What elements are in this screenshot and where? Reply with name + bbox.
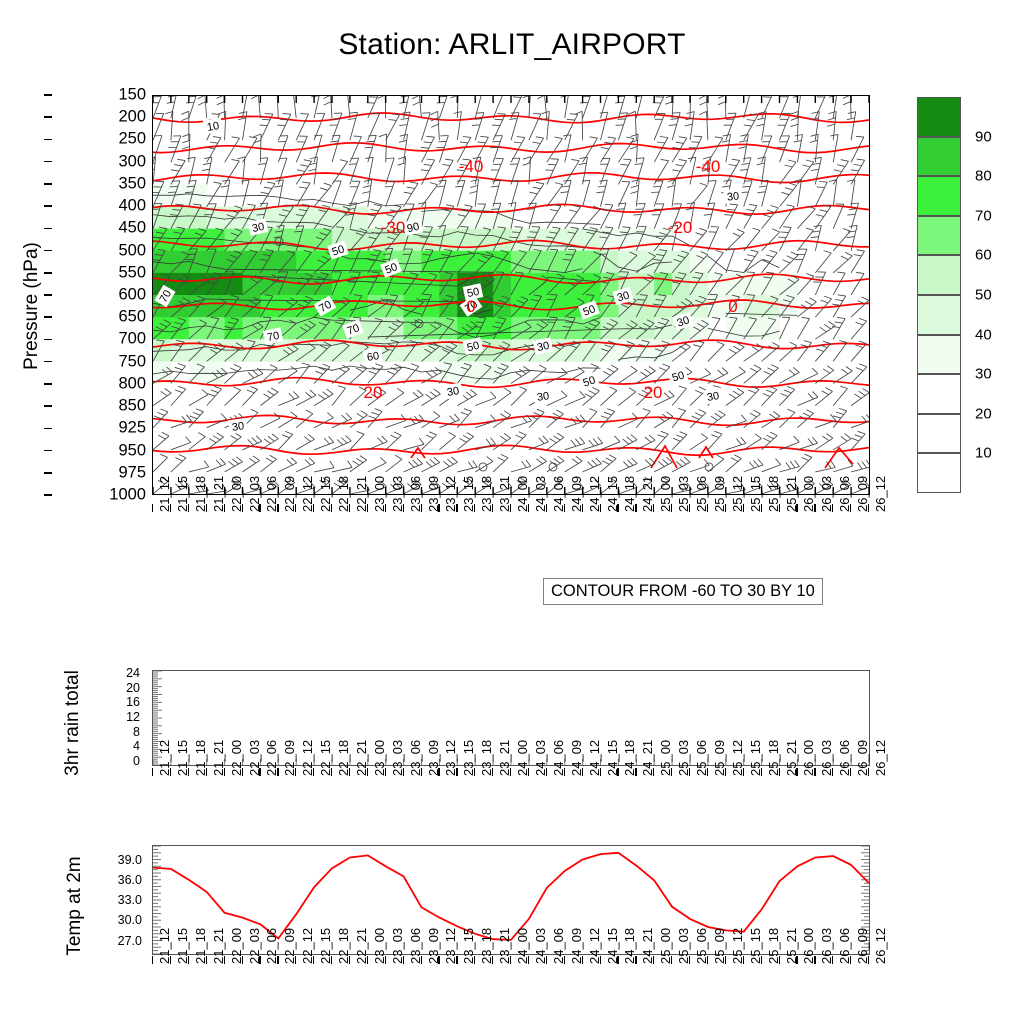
time-tick: [438, 956, 439, 964]
rain-tick-label: 4: [133, 739, 140, 753]
pressure-tick-label: 850: [118, 397, 146, 416]
time-tick: [259, 768, 260, 776]
colorbar-swatch: [917, 216, 961, 256]
time-tick: [242, 504, 243, 512]
time-tick: [707, 956, 708, 964]
colorbar-tick-label: 70: [975, 207, 992, 224]
time-tick: [671, 956, 672, 964]
pressure-tick: [44, 250, 52, 252]
pressure-tick: [44, 450, 52, 452]
temp-series-line: [153, 853, 869, 940]
humidity-colorbar: 102030405060708090: [917, 97, 961, 493]
time-tick: [868, 504, 869, 512]
main-yaxis-label: Pressure (hPa): [21, 156, 43, 456]
time-tick: [313, 768, 314, 776]
time-tick: [564, 956, 565, 964]
time-tick: [331, 956, 332, 964]
colorbar-swatch: [917, 97, 961, 137]
pressure-tick: [44, 316, 52, 318]
time-tick: [617, 504, 618, 512]
time-tick: [743, 956, 744, 964]
time-tick: [438, 768, 439, 776]
time-tick: [277, 956, 278, 964]
time-tick: [385, 768, 386, 776]
time-tick: [653, 768, 654, 776]
pressure-tick-label: 550: [118, 263, 146, 282]
time-tick: [689, 956, 690, 964]
time-tick: [635, 768, 636, 776]
time-tick: [761, 956, 762, 964]
time-tick: [152, 956, 153, 964]
time-tick: [796, 956, 797, 964]
pressure-tick: [44, 405, 52, 407]
time-tick: [188, 768, 189, 776]
time-tick: [600, 768, 601, 776]
time-tick: [313, 504, 314, 512]
pressure-tick: [44, 294, 52, 296]
temp-yaxis-label: Temp at 2m: [64, 801, 86, 1011]
colorbar-tick-label: 60: [975, 247, 992, 264]
time-tick: [492, 956, 493, 964]
time-tick: [259, 504, 260, 512]
svg-text:-30: -30: [381, 218, 406, 237]
colorbar-swatch: [917, 374, 961, 414]
temp-tick-label: 33.0: [118, 893, 142, 907]
pressure-tick: [44, 339, 52, 341]
time-tick: [635, 956, 636, 964]
svg-text:70: 70: [266, 330, 280, 344]
time-tick: [689, 504, 690, 512]
time-tick: [403, 956, 404, 964]
time-tick: [474, 504, 475, 512]
time-tick: [689, 768, 690, 776]
time-tick: [295, 768, 296, 776]
time-tick: [546, 956, 547, 964]
time-tick: [510, 504, 511, 512]
svg-text:60: 60: [366, 350, 380, 364]
time-tick: [582, 504, 583, 512]
pressure-tick-label: 500: [118, 241, 146, 260]
time-tick: [403, 768, 404, 776]
svg-text:20: 20: [364, 383, 383, 402]
time-tick: [277, 504, 278, 512]
page-title: Station: ARLIT_AIRPORT: [0, 28, 1024, 62]
time-tick: [170, 768, 171, 776]
pressure-tick-label: 800: [118, 374, 146, 393]
colorbar-swatch: [917, 335, 961, 375]
time-tick: [743, 504, 744, 512]
time-tick: [206, 768, 207, 776]
svg-text:30: 30: [446, 385, 460, 399]
time-tick: [582, 956, 583, 964]
pressure-tick: [44, 94, 52, 96]
svg-text:-40: -40: [696, 157, 721, 176]
time-tick: [349, 956, 350, 964]
time-tick: [814, 768, 815, 776]
pressure-tick: [44, 472, 52, 474]
colorbar-tick-label: 30: [975, 366, 992, 383]
time-tick: [367, 956, 368, 964]
time-tick: [474, 768, 475, 776]
svg-text:30: 30: [726, 190, 739, 203]
colorbar-swatch: [917, 176, 961, 216]
time-tick: [743, 768, 744, 776]
time-tick: [349, 768, 350, 776]
time-tick-label: 26_12: [873, 476, 888, 512]
time-tick: [456, 504, 457, 512]
pressure-tick-label: 750: [118, 352, 146, 371]
time-tick: [510, 956, 511, 964]
humidity-shading: [153, 184, 798, 384]
pressure-tick: [44, 139, 52, 141]
colorbar-tick-label: 20: [975, 405, 992, 422]
time-tick: [474, 956, 475, 964]
time-tick: [528, 504, 529, 512]
temp-tick-label: 36.0: [118, 873, 142, 887]
colorbar-tick-label: 80: [975, 168, 992, 185]
rain-tick-label: 24: [126, 666, 140, 680]
pressure-tick-label: 250: [118, 130, 146, 149]
pressure-tick: [44, 228, 52, 230]
time-tick: [206, 956, 207, 964]
time-tick: [814, 956, 815, 964]
time-tick: [725, 504, 726, 512]
svg-text:10: 10: [206, 120, 220, 134]
time-tick: [492, 504, 493, 512]
svg-text:30: 30: [706, 390, 720, 404]
contour-note: CONTOUR FROM -60 TO 30 BY 10: [543, 578, 823, 605]
time-tick: [170, 956, 171, 964]
time-tick: [331, 504, 332, 512]
pressure-tick-label: 975: [118, 463, 146, 482]
time-tick: [796, 504, 797, 512]
time-tick: [456, 768, 457, 776]
time-tick: [546, 768, 547, 776]
time-tick: [295, 956, 296, 964]
time-tick: [725, 956, 726, 964]
pressure-tick: [44, 383, 52, 385]
time-tick: [242, 956, 243, 964]
time-tick: [224, 956, 225, 964]
time-tick: [492, 768, 493, 776]
time-tick: [170, 504, 171, 512]
time-tick: [868, 768, 869, 776]
time-tick: [385, 956, 386, 964]
time-tick: [796, 768, 797, 776]
time-tick: [403, 504, 404, 512]
pressure-tick: [44, 161, 52, 163]
time-tick: [832, 504, 833, 512]
time-tick: [331, 768, 332, 776]
svg-text:-20: -20: [668, 218, 693, 237]
colorbar-swatch: [917, 453, 961, 493]
time-height-cross-section-plot[interactable]: 1030905050507070707070605050305050303030…: [152, 95, 870, 495]
time-tick: [707, 768, 708, 776]
time-tick: [188, 504, 189, 512]
time-tick: [671, 768, 672, 776]
pressure-tick-label: 400: [118, 197, 146, 216]
time-tick: [582, 768, 583, 776]
time-tick: [635, 504, 636, 512]
time-tick: [152, 768, 153, 776]
time-tick-label: 26_12: [873, 928, 888, 964]
pressure-tick-label: 1000: [109, 486, 146, 505]
time-tick: [814, 504, 815, 512]
time-tick: [438, 504, 439, 512]
time-tick: [850, 504, 851, 512]
pressure-tick: [44, 361, 52, 363]
time-tick: [707, 504, 708, 512]
time-tick: [313, 956, 314, 964]
pressure-tick-label: 650: [118, 308, 146, 327]
time-tick: [510, 768, 511, 776]
colorbar-swatch: [917, 414, 961, 454]
pressure-tick: [44, 205, 52, 207]
temp-tick-label: 30.0: [118, 913, 142, 927]
pressure-tick-label: 700: [118, 330, 146, 349]
pressure-tick-label: 925: [118, 419, 146, 438]
pressure-tick: [44, 272, 52, 274]
svg-text:0: 0: [728, 297, 737, 316]
pressure-tick-label: 300: [118, 152, 146, 171]
rain-yaxis-label: 3hr rain total: [62, 628, 84, 818]
time-tick: [224, 768, 225, 776]
temp-axis: 27.030.033.036.039.0: [100, 845, 142, 955]
time-tick: [617, 956, 618, 964]
time-tick: [653, 504, 654, 512]
pressure-tick: [44, 494, 52, 496]
time-tick: [367, 504, 368, 512]
time-tick: [761, 768, 762, 776]
time-tick: [779, 956, 780, 964]
time-tick: [564, 504, 565, 512]
svg-text:30: 30: [536, 340, 550, 354]
time-tick: [850, 956, 851, 964]
svg-text:30: 30: [251, 221, 265, 235]
time-tick: [617, 768, 618, 776]
time-tick: [761, 504, 762, 512]
time-tick: [653, 956, 654, 964]
time-tick-label: 26_12: [873, 740, 888, 776]
pressure-tick: [44, 116, 52, 118]
time-tick: [259, 956, 260, 964]
sounding-svg: 1030905050507070707070605050305050303030…: [153, 96, 869, 494]
time-tick: [725, 768, 726, 776]
time-tick: [385, 504, 386, 512]
time-tick: [832, 956, 833, 964]
time-tick: [600, 956, 601, 964]
pressure-tick-label: 350: [118, 174, 146, 193]
colorbar-tick-label: 40: [975, 326, 992, 343]
time-tick: [779, 768, 780, 776]
colorbar-tick-label: 90: [975, 128, 992, 145]
time-tick: [528, 768, 529, 776]
svg-text:-40: -40: [459, 157, 484, 176]
time-tick: [832, 768, 833, 776]
time-tick: [456, 956, 457, 964]
time-tick: [224, 504, 225, 512]
rain-tick-label: 12: [126, 710, 140, 724]
time-tick: [421, 768, 422, 776]
colorbar-tick-label: 10: [975, 445, 992, 462]
time-tick: [188, 956, 189, 964]
rain-tick-label: 0: [133, 754, 140, 768]
pressure-axis: 1502002503003504004505005506006507007508…: [96, 95, 146, 495]
time-tick: [349, 504, 350, 512]
time-tick: [206, 504, 207, 512]
time-tick: [421, 504, 422, 512]
pressure-tick-label: 950: [118, 441, 146, 460]
colorbar-tick-label: 50: [975, 287, 992, 304]
pressure-tick-label: 200: [118, 108, 146, 127]
rain-tick-label: 8: [133, 725, 140, 739]
pressure-tick-label: 150: [118, 86, 146, 105]
time-tick: [779, 504, 780, 512]
time-tick: [850, 768, 851, 776]
colorbar-swatch: [917, 255, 961, 295]
time-tick: [528, 956, 529, 964]
time-tick: [277, 768, 278, 776]
time-tick: [367, 768, 368, 776]
colorbar-swatch: [917, 137, 961, 177]
rain-tick-label: 16: [126, 695, 140, 709]
time-tick: [546, 504, 547, 512]
time-tick: [600, 504, 601, 512]
svg-text:30: 30: [231, 420, 245, 434]
rain-tick-label: 20: [126, 681, 140, 695]
pressure-tick: [44, 428, 52, 430]
pressure-tick-label: 600: [118, 286, 146, 305]
time-tick: [295, 504, 296, 512]
svg-text:30: 30: [536, 390, 550, 404]
time-tick: [868, 956, 869, 964]
temp-tick-label: 27.0: [118, 934, 142, 948]
time-tick: [671, 504, 672, 512]
rain-axis: 04812162024: [106, 670, 140, 766]
time-tick: [564, 768, 565, 776]
temp-tick-label: 39.0: [118, 853, 142, 867]
time-tick: [421, 956, 422, 964]
time-tick: [242, 768, 243, 776]
pressure-tick-label: 450: [118, 219, 146, 238]
colorbar-swatch: [917, 295, 961, 335]
time-tick: [152, 504, 153, 512]
svg-text:20: 20: [644, 383, 663, 402]
svg-text:0: 0: [466, 297, 475, 316]
pressure-tick: [44, 183, 52, 185]
